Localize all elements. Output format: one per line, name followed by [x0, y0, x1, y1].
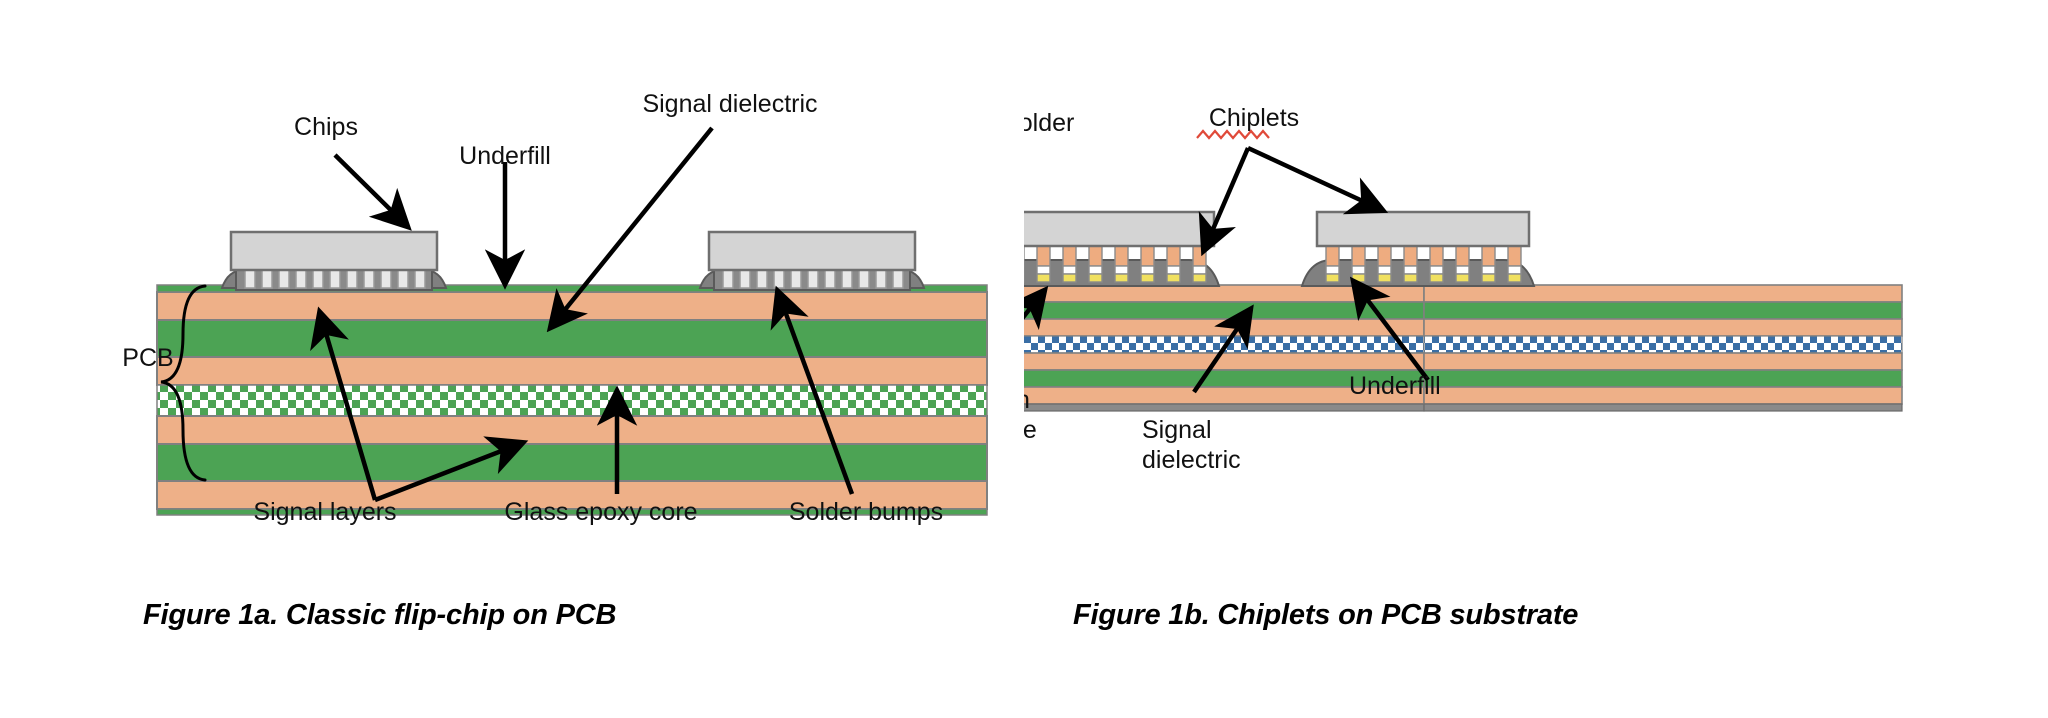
chip-2-solder-bumps	[723, 270, 903, 288]
label-glass-epoxy-core: Glass epoxy core	[504, 498, 697, 526]
figure-1a-caption: Figure 1a. Classic flip-chip on PCB	[143, 599, 616, 632]
label-signal-dielectric-b-line-1: Signal	[1142, 416, 1212, 444]
copper-pillar	[1089, 244, 1102, 282]
copper-pillar	[1404, 244, 1417, 282]
layer-signal-dielectric-2	[157, 357, 987, 385]
layer-signal-dielectric-top	[157, 292, 987, 320]
chip-1-group	[222, 232, 446, 290]
chip-2-group	[700, 232, 924, 290]
layer-b-bottom-mask	[1024, 404, 1424, 411]
label-underfill: Underfill	[459, 142, 551, 170]
chip-1-die-body	[231, 232, 437, 270]
label-chips: Chips	[294, 113, 358, 141]
figure-1b-caption: Figure 1b. Chiplets on PCB substrate	[1073, 599, 1578, 632]
copper-pillar	[1115, 244, 1128, 282]
chiplet-2-die-body	[1317, 212, 1529, 246]
copper-pillar	[1508, 244, 1521, 282]
label-enig-line-1: ENIG on	[1024, 386, 1030, 414]
label-copper-pillars: Copper pillars with solder	[1024, 109, 1074, 137]
copper-pillar	[1063, 244, 1076, 282]
layer-b-dielectric-2	[1024, 319, 1424, 336]
copper-pillar	[1482, 244, 1495, 282]
copper-pillar	[1141, 244, 1154, 282]
spellcheck-squiggle-icon	[1197, 131, 1269, 138]
layer-signal-layer-1	[157, 320, 987, 357]
label-chiplets: Chiplets	[1209, 104, 1299, 132]
copper-pillar	[1456, 244, 1469, 282]
figure-1a-drawing: Chips Underfill Signal dielectric PCB Si…	[0, 0, 1024, 600]
copper-pillar	[1352, 244, 1365, 282]
layer-signal-layer-2	[157, 444, 987, 481]
copper-pillar	[1326, 244, 1339, 282]
chiplet-1-die-body	[1024, 212, 1214, 246]
pcb-stack	[157, 285, 987, 515]
layer-b-dielectric-3	[1024, 353, 1424, 370]
copper-pillar	[1167, 244, 1180, 282]
arrow-chips	[335, 155, 407, 226]
label-signal-layers: Signal layers	[253, 498, 396, 526]
label-underfill-b: Underfill	[1349, 372, 1441, 400]
layer-glass-epoxy-core	[157, 385, 987, 416]
copper-pillar	[1378, 244, 1391, 282]
label-pcb: PCB	[122, 344, 173, 372]
label-solder-bumps: Solder bumps	[789, 498, 943, 526]
layer-b-signal-1	[1024, 302, 1424, 319]
label-enig-line-2: substrate	[1024, 416, 1037, 444]
chiplet-1-group	[1024, 212, 1219, 286]
chiplet-2-group	[1302, 212, 1534, 286]
copper-pillar	[1037, 244, 1050, 282]
arrow-chiplets-right	[1248, 148, 1382, 210]
layer-signal-dielectric-3	[157, 416, 987, 444]
chip-1-solder-bumps	[245, 270, 425, 288]
arrow-chiplets-left	[1204, 148, 1248, 250]
figure-1b-drawing: Copper pillars with solder Chiplets ENIG…	[1024, 0, 2048, 600]
chip-2-die-body	[709, 232, 915, 270]
label-signal-dielectric: Signal dielectric	[642, 90, 817, 118]
copper-pillar	[1430, 244, 1443, 282]
substrate-stack-right	[1424, 285, 1902, 411]
label-signal-dielectric-b-line-2: dielectric	[1142, 446, 1241, 474]
